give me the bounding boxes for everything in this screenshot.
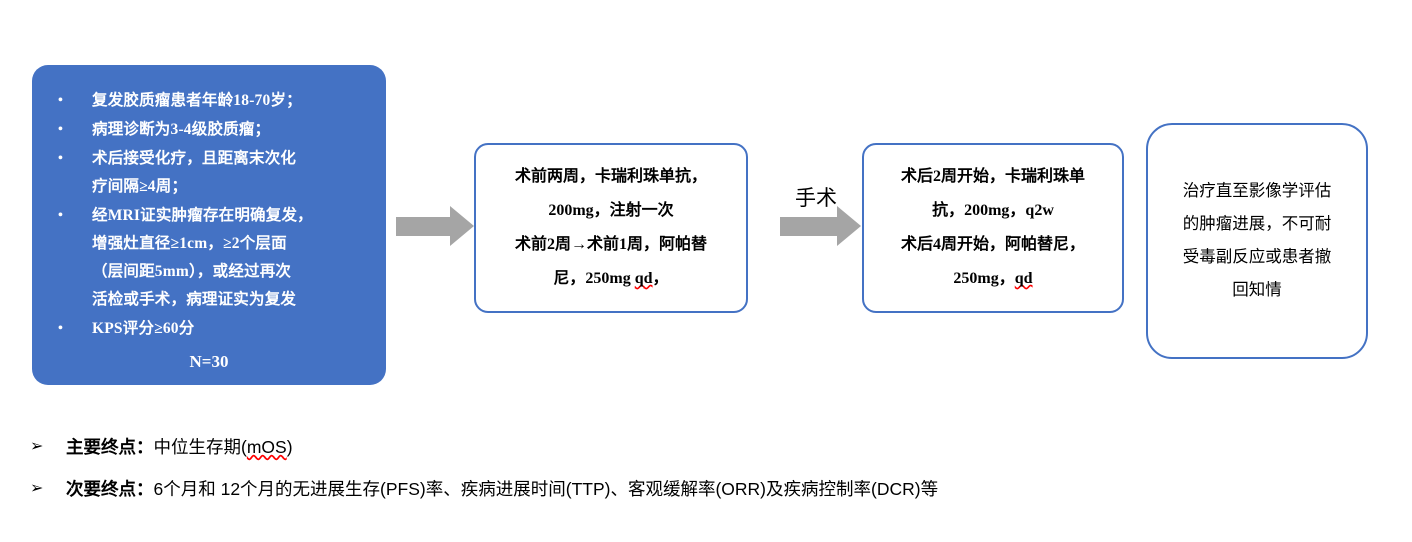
arrowhead-bullet-icon: ➢ [30, 432, 43, 462]
spellcheck-token: qd [1015, 270, 1033, 287]
treatment-duration-box: 治疗直至影像学评估 的肿瘤进展，不可耐 受毒副反应或患者撤 回知情 [1146, 123, 1368, 359]
flow-arrow-to-postop-icon [780, 206, 862, 247]
arrow-shaft [396, 217, 452, 236]
preop-line-last: 尼，250mg qd， [553, 270, 668, 287]
postop-line: 抗，200mg，q2w [932, 202, 1054, 219]
spellcheck-token: qd [635, 270, 653, 287]
flow-arrow-to-preop-icon [396, 206, 474, 247]
secondary-endpoint-row: ➢ 次要终点：6个月和 12个月的无进展生存(PFS)率、疾病进展时间(TTP)… [28, 474, 1368, 504]
sample-size-label: N=30 [46, 347, 372, 377]
secondary-endpoint-value: 6个月和 12个月的无进展生存(PFS)率、疾病进展时间(TTP)、客观缓解率(… [154, 479, 939, 499]
primary-endpoint-row: ➢ 主要终点：中位生存期(mOS) [28, 432, 1368, 462]
criteria-item-line: 疗间隔≥4周； [92, 178, 187, 195]
arrow-shaft [780, 217, 838, 236]
duration-line: 回知情 [1232, 281, 1282, 299]
postop-line: 术后2周开始，卡瑞利珠单 [901, 168, 1085, 185]
criteria-item-line: 经MRI证实肿瘤存在明确复发， [92, 207, 313, 224]
criteria-item-line: 复发胶质瘤患者年龄18-70岁； [92, 92, 302, 109]
criteria-item: • 复发胶质瘤患者年龄18-70岁； [46, 87, 372, 115]
arrow-head [837, 206, 861, 246]
postop-line-last: 250mg，qd [953, 270, 1032, 287]
preop-line: 200mg，注射一次 [548, 202, 673, 219]
secondary-endpoint-label: 次要终点： [66, 479, 154, 499]
bullet-icon: • [58, 145, 63, 173]
treatment-duration-text: 治疗直至影像学评估 的肿瘤进展，不可耐 受毒副反应或患者撤 回知情 [1175, 175, 1340, 307]
preop-line: 术前两周，卡瑞利珠单抗， [515, 168, 707, 185]
bullet-icon: • [58, 116, 63, 144]
criteria-item: • 经MRI证实肿瘤存在明确复发， 增强灶直径≥1cm，≥2个层面 （层间距5m… [46, 202, 372, 314]
primary-endpoint-label: 主要终点： [66, 437, 154, 457]
criteria-item: • 术后接受化疗，且距离末次化 疗间隔≥4周； [46, 145, 372, 201]
postoperative-treatment-box: 术后2周开始，卡瑞利珠单 抗，200mg，q2w 术后4周开始，阿帕替尼， 25… [862, 143, 1124, 313]
postoperative-treatment-text: 术后2周开始，卡瑞利珠单 抗，200mg，q2w 术后4周开始，阿帕替尼， 25… [893, 160, 1093, 296]
criteria-item: • KPS评分≥60分 [46, 315, 372, 343]
criteria-item-line: （层间距5mm），或经过再次 [92, 263, 291, 280]
duration-line: 的肿瘤进展，不可耐 [1183, 215, 1332, 233]
criteria-item-line: 病理诊断为3-4级胶质瘤； [92, 121, 270, 138]
preop-line: 术前2周→术前1周，阿帕替 [515, 236, 707, 253]
arrowhead-bullet-icon: ➢ [30, 474, 43, 504]
endpoints-section: ➢ 主要终点：中位生存期(mOS) ➢ 次要终点：6个月和 12个月的无进展生存… [28, 432, 1368, 516]
bullet-icon: • [58, 315, 63, 343]
postop-line: 术后4周开始，阿帕替尼， [901, 236, 1085, 253]
criteria-item-line: 术后接受化疗，且距离末次化 [92, 150, 296, 167]
bullet-icon: • [58, 202, 63, 230]
duration-line: 治疗直至影像学评估 [1183, 182, 1332, 200]
preoperative-treatment-box: 术前两周，卡瑞利珠单抗， 200mg，注射一次 术前2周→术前1周，阿帕替 尼，… [474, 143, 748, 313]
eligibility-criteria-list: • 复发胶质瘤患者年龄18-70岁； • 病理诊断为3-4级胶质瘤； • 术后接… [46, 87, 372, 343]
primary-endpoint-value: 中位生存期(mOS) [154, 437, 293, 457]
criteria-item-line: 增强灶直径≥1cm，≥2个层面 [92, 235, 287, 252]
criteria-item-line: KPS评分≥60分 [92, 320, 194, 337]
criteria-item-line: 活检或手术，病理证实为复发 [92, 291, 296, 308]
preoperative-treatment-text: 术前两周，卡瑞利珠单抗， 200mg，注射一次 术前2周→术前1周，阿帕替 尼，… [507, 160, 715, 296]
bullet-icon: • [58, 87, 63, 115]
criteria-item: • 病理诊断为3-4级胶质瘤； [46, 116, 372, 144]
duration-line: 受毒副反应或患者撤 [1183, 248, 1332, 266]
arrow-head [450, 206, 474, 246]
spellcheck-token: mOS [247, 437, 287, 457]
eligibility-criteria-box: • 复发胶质瘤患者年龄18-70岁； • 病理诊断为3-4级胶质瘤； • 术后接… [32, 65, 386, 385]
